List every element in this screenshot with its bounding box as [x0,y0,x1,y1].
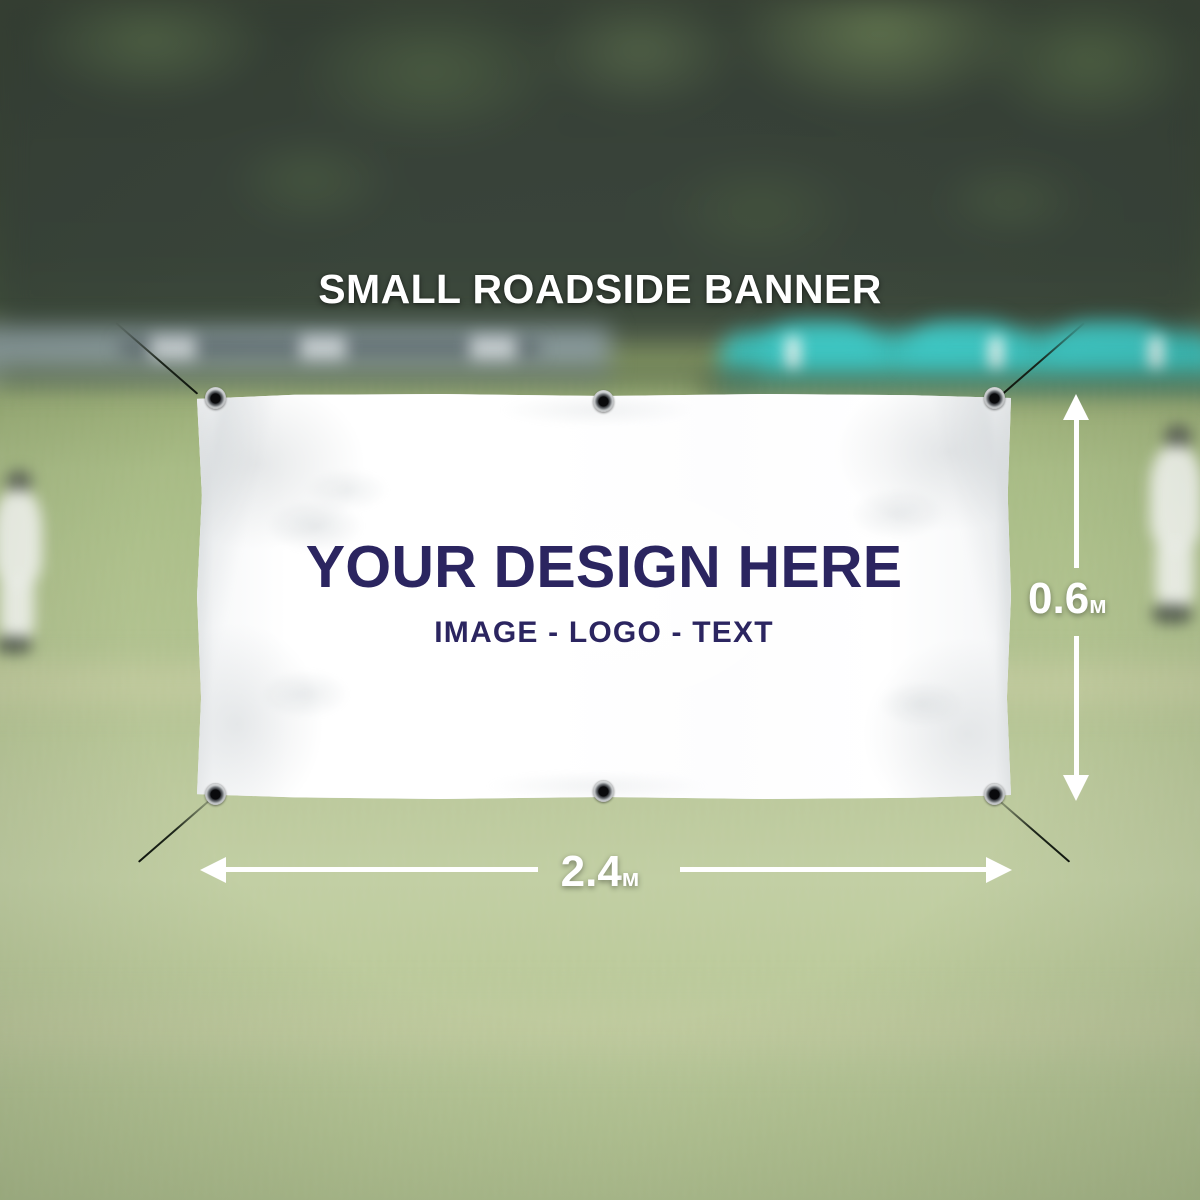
arrowhead-down-icon [1063,775,1089,801]
arrowhead-up-icon [1063,394,1089,420]
grommet-bottom-right [984,783,1005,805]
grommet-top-center [593,390,614,412]
grommet-bottom-center [593,780,614,802]
dimension-height-unit: м [1089,592,1107,619]
banner-headline: YOUR DESIGN HERE [197,533,1011,601]
page-title: SMALL ROADSIDE BANNER [0,266,1200,313]
dimension-width-label: 2.4м [0,847,1200,897]
dimension-line-height-upper [1074,418,1079,568]
dimension-line-height-lower [1074,636,1079,778]
dimension-width-value: 2.4 [561,847,622,896]
banner-subline: IMAGE - LOGO - TEXT [197,616,1011,650]
dimension-height-label: 0.6м [1028,574,1107,624]
banner-mockup-image: YOUR DESIGN HERE IMAGE - LOGO - TEXT SMA… [0,0,1200,1200]
vinyl-banner[interactable]: YOUR DESIGN HERE IMAGE - LOGO - TEXT [197,394,1011,799]
dimension-height-value: 0.6 [1028,574,1089,623]
grommet-top-right [984,387,1005,409]
grommet-bottom-left [205,783,226,805]
dimension-width-unit: м [622,865,640,892]
grommet-top-left [205,387,226,409]
